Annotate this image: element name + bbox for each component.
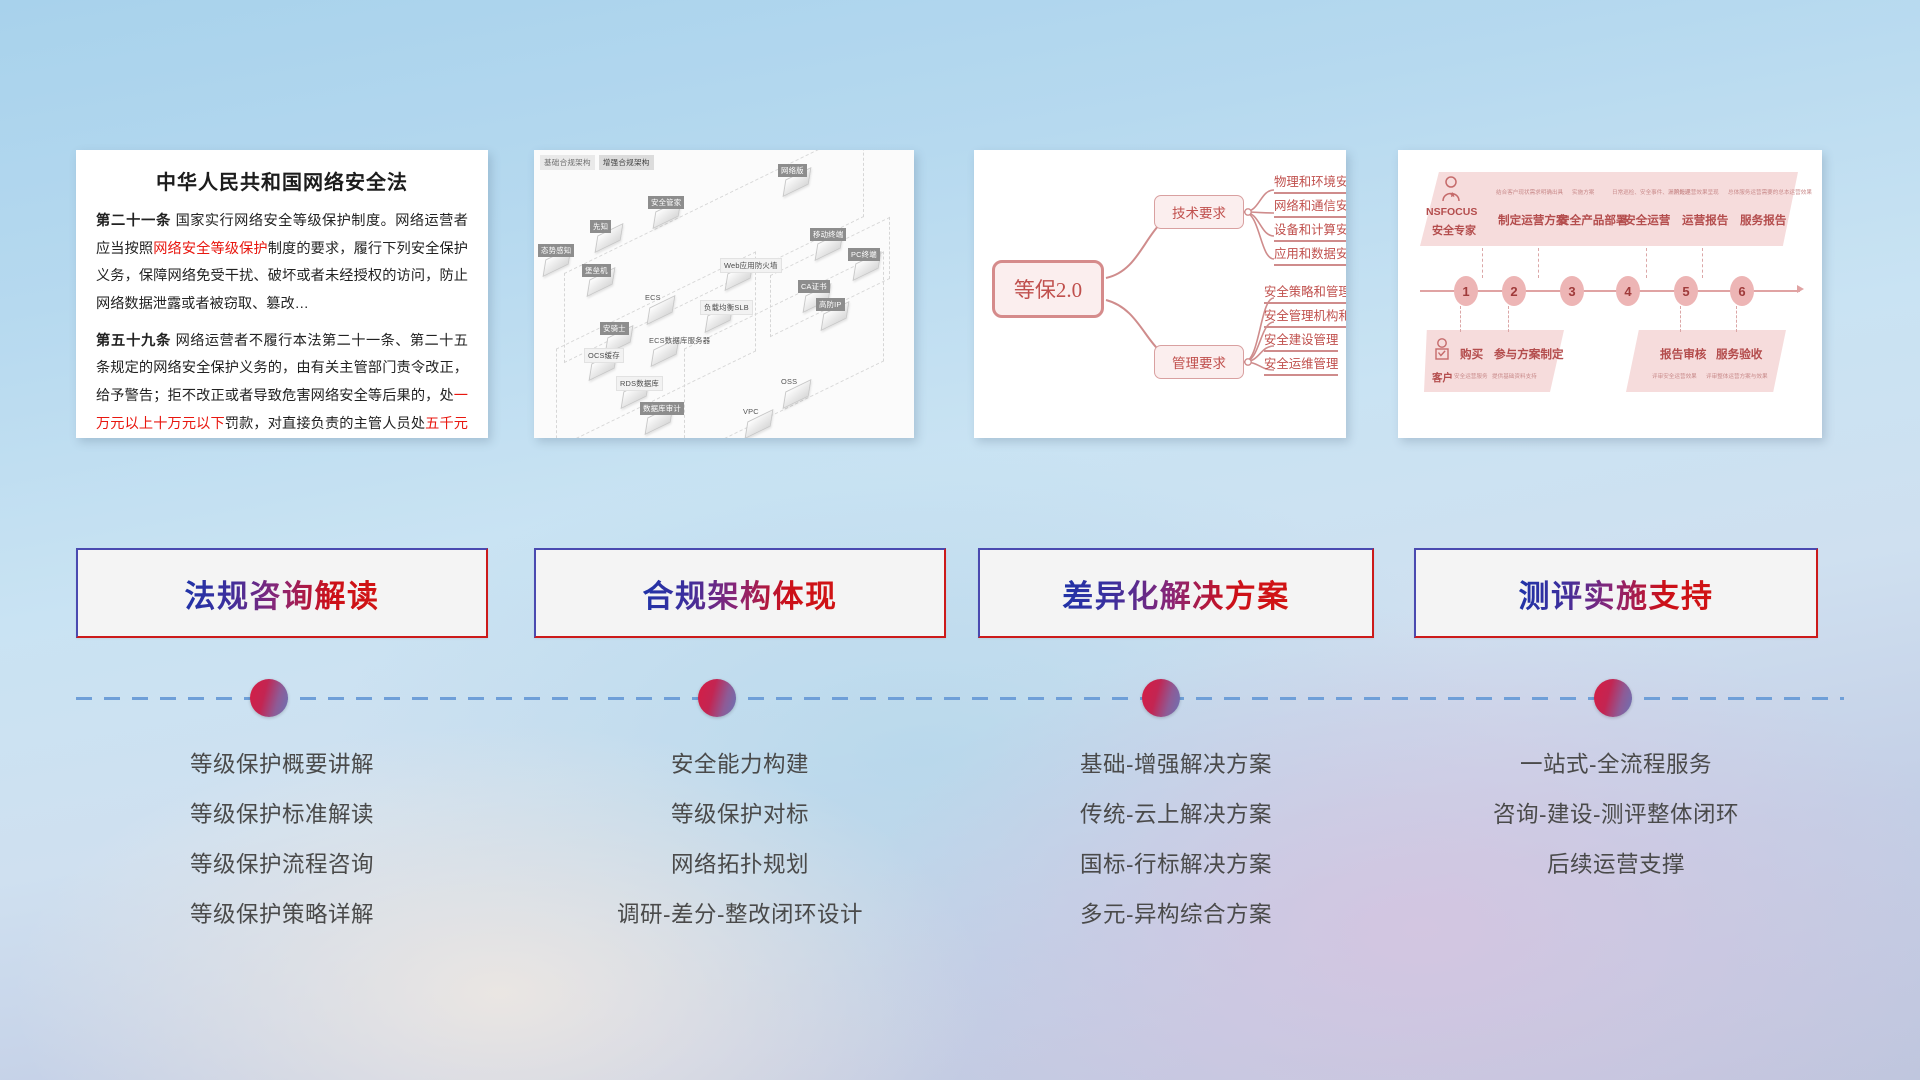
list-item: 基础-增强解决方案 [978, 740, 1374, 790]
mindmap-leaf: 安全管理机构和人员 [1264, 306, 1346, 328]
mindmap-leaf: 网络和通信安全 [1274, 196, 1346, 218]
architecture-node: Web应用防火墙 [726, 268, 752, 284]
timeline-step-number: 6 [1730, 276, 1754, 306]
timeline-connector [1538, 248, 1539, 278]
architecture-node: 先知 [596, 230, 622, 246]
architecture-node-label: 安全管家 [648, 196, 684, 209]
customer-role: 客户 [1432, 370, 1453, 385]
architecture-node-label: CA证书 [798, 280, 830, 293]
vendor-person-icon [1440, 176, 1462, 207]
vendor-name: NSFOCUS [1426, 206, 1477, 218]
architecture-node: RDS数据库 [622, 386, 648, 402]
architecture-node: 安全管家 [654, 206, 680, 222]
law-article-label: 第五十九条 [96, 333, 171, 349]
timeline-arrow-icon [1797, 285, 1804, 293]
mindmap-leaf: 应用和数据安全 [1274, 244, 1346, 266]
heading-box-regulation-consulting[interactable]: 法规咨询解读 [76, 548, 488, 638]
law-run-highlight: 网络安全等级保护 [153, 241, 268, 257]
detail-list-row: 等级保护概要讲解 等级保护标准解读 等级保护流程咨询 等级保护策略详解 安全能力… [0, 740, 1920, 980]
vendor-step-desc: 阶段运营效果呈现 [1674, 188, 1719, 196]
architecture-node-label: 安骑士 [600, 322, 629, 335]
list-item: 国标-行标解决方案 [978, 840, 1374, 890]
architecture-node-label: RDS数据库 [616, 376, 663, 391]
law-paragraph-59: 第五十九条 网络运营者不履行本法第二十一条、第二十五条规定的网络安全保护义务的，… [96, 328, 468, 438]
law-run: 罚款，对直接负责的主管人员处 [225, 416, 425, 432]
architecture-node-label: 态势感知 [538, 244, 574, 257]
customer-step-desc: 评审安全运营效果 [1652, 372, 1697, 380]
customer-step-title: 购买 [1460, 346, 1483, 362]
heading-row: 法规咨询解读 合规架构体现 差异化解决方案 测评实施支持 [0, 548, 1920, 640]
architecture-tabs: 基础合规架构 增强合规架构 [540, 155, 654, 170]
detail-list-architecture: 安全能力构建 等级保护对标 网络拓扑规划 调研-差分-整改闭环设计 [534, 740, 946, 940]
timeline-step-number: 1 [1454, 276, 1478, 306]
card-cloud-architecture: 基础合规架构 增强合规架构 网络版安全管家先知态势感知堡垒机安骑士移动终端PC终… [534, 150, 914, 438]
detail-list-solution: 基础-增强解决方案 传统-云上解决方案 国标-行标解决方案 多元-异构综合方案 [978, 740, 1374, 940]
architecture-node-label: 先知 [590, 220, 611, 233]
timeline-step-number: 4 [1616, 276, 1640, 306]
architecture-node-label: Web应用防火墙 [720, 258, 782, 273]
timeline-dot-2[interactable] [698, 679, 736, 717]
heading-label: 法规咨询解读 [185, 571, 380, 616]
list-item: 等级保护对标 [534, 790, 946, 840]
architecture-node-label: OSS [778, 376, 800, 387]
architecture-node-label: PC终端 [848, 248, 880, 261]
customer-step-title: 服务验收 [1716, 346, 1762, 362]
mindmap: 等保2.0 技术要求 管理要求 物理和环境安全 网络和通信安全 设备和计算安全 … [974, 150, 1346, 438]
architecture-node-label: 网络版 [778, 164, 807, 177]
heading-box-differentiated-solution[interactable]: 差异化解决方案 [978, 548, 1374, 638]
architecture-node: 负载均衡SLB [706, 310, 732, 326]
heading-box-compliance-architecture[interactable]: 合规架构体现 [534, 548, 946, 638]
mindmap-root-node: 等保2.0 [992, 260, 1104, 318]
architecture-node-label: 数据库审计 [640, 402, 684, 415]
customer-step-desc: 评审整体运营方案与效果 [1706, 372, 1768, 380]
list-item: 等级保护概要讲解 [76, 740, 488, 790]
architecture-node-label: 移动终端 [810, 228, 846, 241]
timeline-dot-1[interactable] [250, 679, 288, 717]
architecture-node: OCS缓存 [590, 358, 616, 374]
list-item: 一站式-全流程服务 [1414, 740, 1818, 790]
progress-strip [0, 668, 1920, 728]
customer-step-title: 参与方案制定 [1494, 346, 1564, 362]
list-item: 咨询-建设-测评整体闭环 [1414, 790, 1818, 840]
architecture-node-label: ECS [642, 292, 664, 303]
mindmap-leaf: 物理和环境安全 [1274, 172, 1346, 194]
list-item: 后续运营支撑 [1414, 840, 1818, 890]
vendor-step-title: 服务报告 [1740, 212, 1786, 228]
list-item: 网络拓扑规划 [534, 840, 946, 890]
dashed-line [76, 697, 1844, 700]
timeline-connector [1736, 306, 1737, 332]
architecture-node: 移动终端 [816, 238, 842, 254]
architecture-node: OSS [784, 386, 810, 402]
timeline-step-number: 3 [1560, 276, 1584, 306]
law-title: 中华人民共和国网络安全法 [96, 166, 468, 195]
architecture-node: 安骑士 [606, 332, 632, 348]
architecture-node: 态势感知 [544, 254, 570, 270]
law-article-label: 第二十一条 [96, 213, 171, 229]
architecture-node: PC终端 [854, 258, 880, 274]
timeline-connector [1508, 306, 1509, 332]
law-paragraph-21: 第二十一条 国家实行网络安全等级保护制度。网络运营者应当按照网络安全等级保护制度… [96, 208, 468, 319]
architecture-node-label: 高防IP [816, 298, 845, 311]
architecture-node-label: 堡垒机 [582, 264, 611, 277]
list-item: 传统-云上解决方案 [978, 790, 1374, 840]
timeline-step-number: 5 [1674, 276, 1698, 306]
architecture-node-label: OCS缓存 [584, 348, 624, 363]
list-item: 等级保护标准解读 [76, 790, 488, 840]
card-cybersecurity-law: 中华人民共和国网络安全法 第二十一条 国家实行网络安全等级保护制度。网络运营者应… [76, 150, 488, 438]
timeline-connector [1646, 248, 1647, 278]
detail-list-regulation: 等级保护概要讲解 等级保护标准解读 等级保护流程咨询 等级保护策略详解 [76, 740, 488, 940]
architecture-node: 高防IP [822, 308, 848, 324]
architecture-node: 网络版 [784, 174, 810, 190]
timeline-step-number: 2 [1502, 276, 1526, 306]
architecture-node: 数据库审计 [646, 412, 672, 428]
mindmap-branch-management: 管理要求 [1154, 345, 1244, 379]
list-item: 调研-差分-整改闭环设计 [534, 890, 946, 940]
heading-box-assessment-support[interactable]: 测评实施支持 [1414, 548, 1818, 638]
mindmap-leaf: 安全建设管理 [1264, 330, 1338, 352]
service-timeline: NSFOCUS 安全专家 结合客户现状需求明确出具 制定运营方案 实施方案 安全… [1398, 150, 1822, 438]
tab-basic-architecture[interactable]: 基础合规架构 [540, 155, 595, 170]
card-mindmap-dengbao: 等保2.0 技术要求 管理要求 物理和环境安全 网络和通信安全 设备和计算安全 … [974, 150, 1346, 438]
timeline-connector [1702, 248, 1703, 278]
timeline-connector [1482, 248, 1483, 278]
mindmap-leaf: 安全策略和管理制度 [1264, 282, 1346, 304]
list-item: 等级保护策略详解 [76, 890, 488, 940]
heading-label: 测评实施支持 [1519, 571, 1714, 616]
architecture-node-label: 负载均衡SLB [700, 300, 753, 315]
vendor-step-title: 安全运营 [1624, 212, 1670, 228]
reference-card-row: 中华人民共和国网络安全法 第二十一条 国家实行网络安全等级保护制度。网络运营者应… [0, 150, 1920, 445]
mindmap-branch-technical: 技术要求 [1154, 195, 1244, 229]
customer-person-icon [1432, 338, 1452, 367]
architecture-node-label: ECS数据库服务器 [646, 334, 713, 347]
vendor-step-title: 运营报告 [1682, 212, 1728, 228]
architecture-node-label: VPC [740, 406, 762, 417]
architecture-node: 堡垒机 [588, 274, 614, 290]
timeline-dot-4[interactable] [1594, 679, 1632, 717]
vendor-step-desc: 实施方案 [1572, 188, 1594, 196]
customer-step-desc: 提供基础资料支持 [1492, 372, 1537, 380]
customer-step-title: 报告审核 [1660, 346, 1706, 362]
list-item: 多元-异构综合方案 [978, 890, 1374, 940]
vendor-step-desc: 结合客户现状需求明确出具 [1496, 188, 1563, 196]
list-item: 等级保护流程咨询 [76, 840, 488, 890]
heading-label: 合规架构体现 [643, 571, 838, 616]
timeline-connector [1680, 306, 1681, 332]
timeline-connector [1460, 306, 1461, 332]
list-item: 安全能力构建 [534, 740, 946, 790]
heading-label: 差异化解决方案 [1062, 571, 1290, 616]
card-service-timeline: NSFOCUS 安全专家 结合客户现状需求明确出具 制定运营方案 实施方案 安全… [1398, 150, 1822, 438]
detail-list-assessment: 一站式-全流程服务 咨询-建设-测评整体闭环 后续运营支撑 [1414, 740, 1818, 890]
mindmap-leaf: 安全运维管理 [1264, 354, 1338, 376]
timeline-dot-3[interactable] [1142, 679, 1180, 717]
architecture-node: ECS数据库服务器 [652, 344, 678, 360]
tab-enhanced-architecture[interactable]: 增强合规架构 [599, 155, 654, 170]
vendor-step-title: 安全产品部署 [1558, 212, 1628, 228]
architecture-node: ECS [648, 302, 674, 318]
architecture-node: VPC [746, 416, 772, 432]
customer-step-desc: 安全运营服务 [1454, 372, 1488, 380]
vendor-role: 安全专家 [1432, 222, 1476, 238]
vendor-step-desc: 总体服务运营需要的总本运营效果 [1728, 188, 1812, 196]
mindmap-leaf: 设备和计算安全 [1274, 220, 1346, 242]
architecture-diagram: 基础合规架构 增强合规架构 网络版安全管家先知态势感知堡垒机安骑士移动终端PC终… [534, 150, 914, 438]
